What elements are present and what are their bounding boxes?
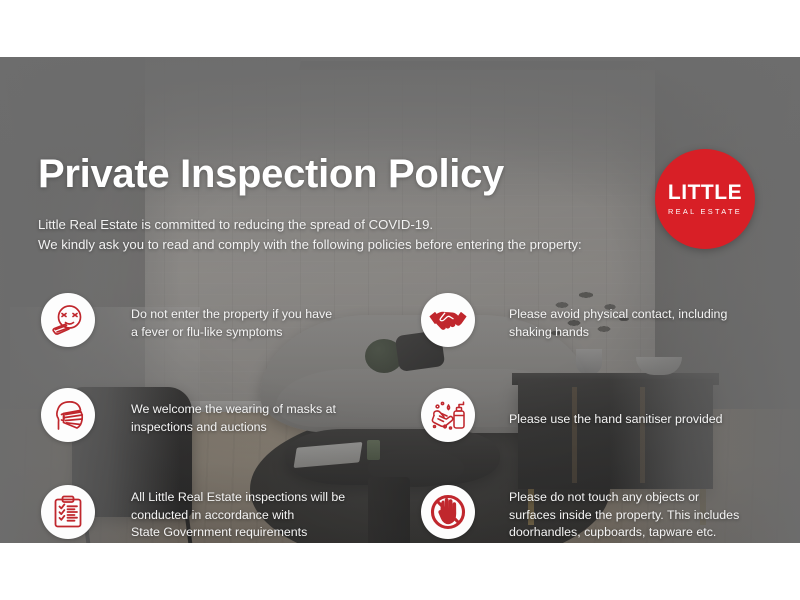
policy-text: We welcome the wearing of masks at inspe… [131,388,336,436]
policy-text: Do not enter the property if you have a … [131,293,332,341]
face-mask-icon [48,395,88,435]
policy-item-masks-welcome: We welcome the wearing of masks at inspe… [41,388,336,442]
policy-icon-badge [421,388,475,442]
policy-line: a fever or flu-like symptoms [131,324,332,342]
policy-icon-badge [421,293,475,347]
policy-line: All Little Real Estate inspections will … [131,489,345,507]
no-touch-icon [427,491,469,533]
policy-line: Please do not touch any objects or [509,489,739,507]
policy-line: inspections and auctions [131,419,336,437]
policy-item-no-touch: Please do not touch any objects or surfa… [421,485,739,542]
sneezing-face-icon [48,300,88,340]
policy-line: Please use the hand sanitiser provided [509,411,723,429]
policy-item-no-handshake: Please avoid physical contact, including… [421,293,727,347]
policy-icon-badge [41,485,95,539]
policy-line: State Government requirements [131,524,345,542]
policy-line: We welcome the wearing of masks at [131,401,336,419]
policy-item-no-entry-if-sick: Do not enter the property if you have a … [41,293,332,347]
policy-icon-badge [41,388,95,442]
policy-line: doorhandles, cupboards, tapware etc. [509,524,739,542]
policy-line: Do not enter the property if you have [131,306,332,324]
handshake-icon [428,300,468,340]
policy-icon-badge [421,485,475,539]
policy-icon-badge [41,293,95,347]
policy-text: All Little Real Estate inspections will … [131,485,345,542]
poster-content: Private Inspection Policy Little Real Es… [0,57,800,543]
policy-line: Please avoid physical contact, including [509,306,727,324]
policy-item-hand-sanitiser: Please use the hand sanitiser provided [421,388,723,442]
policy-list: Do not enter the property if you have a … [0,57,800,543]
policy-text: Please avoid physical contact, including… [509,293,727,341]
policy-line: shaking hands [509,324,727,342]
policy-line: surfaces inside the property. This inclu… [509,507,739,525]
policy-poster: Private Inspection Policy Little Real Es… [0,57,800,543]
clipboard-checklist-icon [48,492,88,532]
hand-sanitiser-icon [428,395,468,435]
policy-text: Please use the hand sanitiser provided [509,388,723,429]
policy-item-state-government: All Little Real Estate inspections will … [41,485,345,542]
policy-text: Please do not touch any objects or surfa… [509,485,739,542]
policy-line: conducted in accordance with [131,507,345,525]
